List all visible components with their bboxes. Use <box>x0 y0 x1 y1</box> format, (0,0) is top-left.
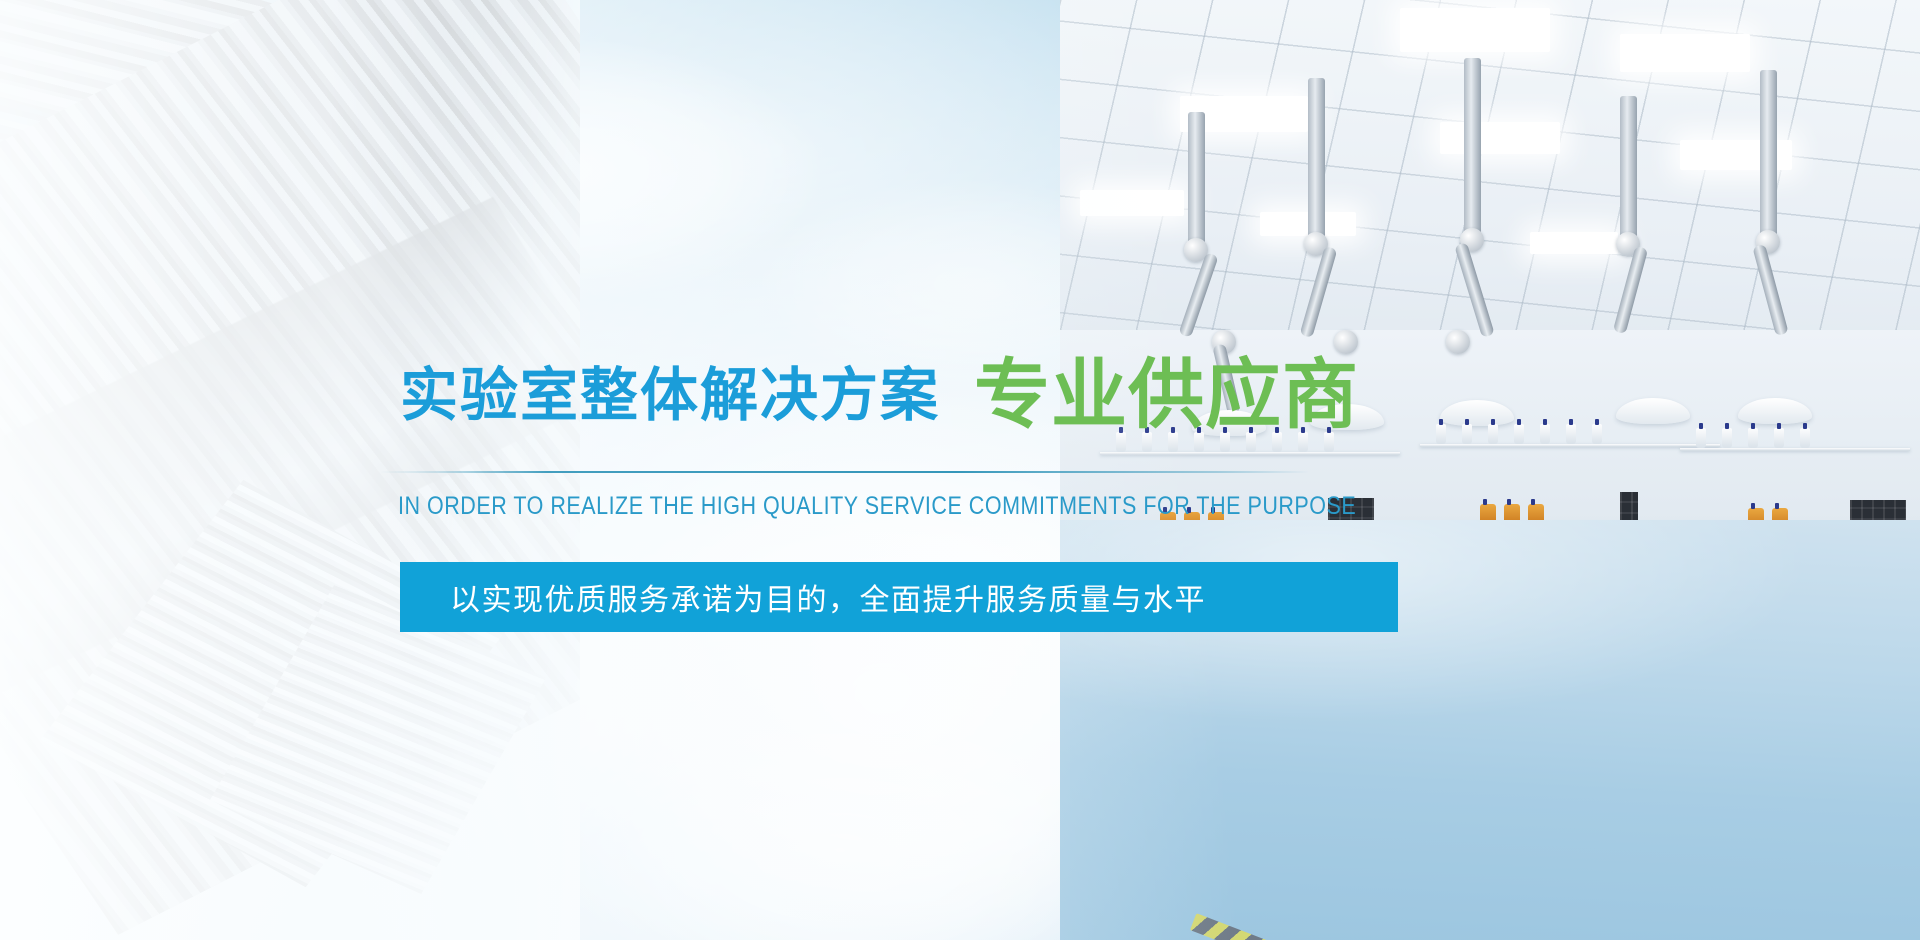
reagent-bottle <box>1722 428 1732 448</box>
ceiling-light-panel <box>1400 8 1550 52</box>
reagent-bottle <box>1436 424 1446 444</box>
floor-hazard-stripe <box>1190 913 1589 940</box>
reagent-bottle <box>1514 424 1524 444</box>
tagline-bar: 以实现优质服务承诺为目的，全面提升服务质量与水平 <box>400 562 1398 632</box>
reagent-bottle <box>1748 428 1758 448</box>
fume-extraction-duct <box>1620 96 1637 238</box>
ceiling-light-panel <box>1080 190 1184 216</box>
laboratory-interior-image <box>1060 0 1920 940</box>
office-building-image <box>0 0 580 940</box>
tagline-text: 以实现优质服务承诺为目的，全面提升服务质量与水平 <box>450 575 1206 619</box>
subheadline-english: IN ORDER TO REALIZE THE HIGH QUALITY SER… <box>398 492 1356 521</box>
reagent-bottle <box>1774 428 1784 448</box>
headline-group: 实验室整体解决方案 专业供应商 <box>400 352 1359 428</box>
reagent-bottle <box>1592 424 1602 444</box>
ceiling-light-panel <box>1530 232 1618 254</box>
reagent-shelf <box>1420 444 1720 447</box>
headline-divider-rule <box>380 471 1310 473</box>
reagent-bottle <box>1696 428 1706 448</box>
reagent-bottle <box>1566 424 1576 444</box>
fume-extraction-duct <box>1464 58 1481 234</box>
fume-extraction-duct <box>1308 78 1325 238</box>
reagent-bottle <box>1800 428 1810 448</box>
reagent-shelf <box>1680 448 1910 451</box>
reagent-bottle <box>1540 424 1550 444</box>
reagent-bottle <box>1462 424 1472 444</box>
fume-extraction-duct <box>1760 70 1777 236</box>
headline-accent: 专业供应商 <box>974 358 1359 434</box>
fume-arm-joint <box>1334 330 1358 354</box>
cloud-shape <box>560 700 1120 940</box>
ceiling-light-panel <box>1620 34 1750 72</box>
reagent-bottle <box>1488 424 1498 444</box>
headline-primary: 实验室整体解决方案 <box>400 367 940 425</box>
fume-extraction-duct <box>1188 112 1205 244</box>
promotional-banner: 实验室整体解决方案 专业供应商 IN ORDER TO REALIZE THE … <box>0 0 1920 940</box>
reagent-shelf <box>1100 452 1400 455</box>
fume-arm-joint <box>1446 330 1470 354</box>
ceiling-light-panel <box>1440 122 1560 154</box>
